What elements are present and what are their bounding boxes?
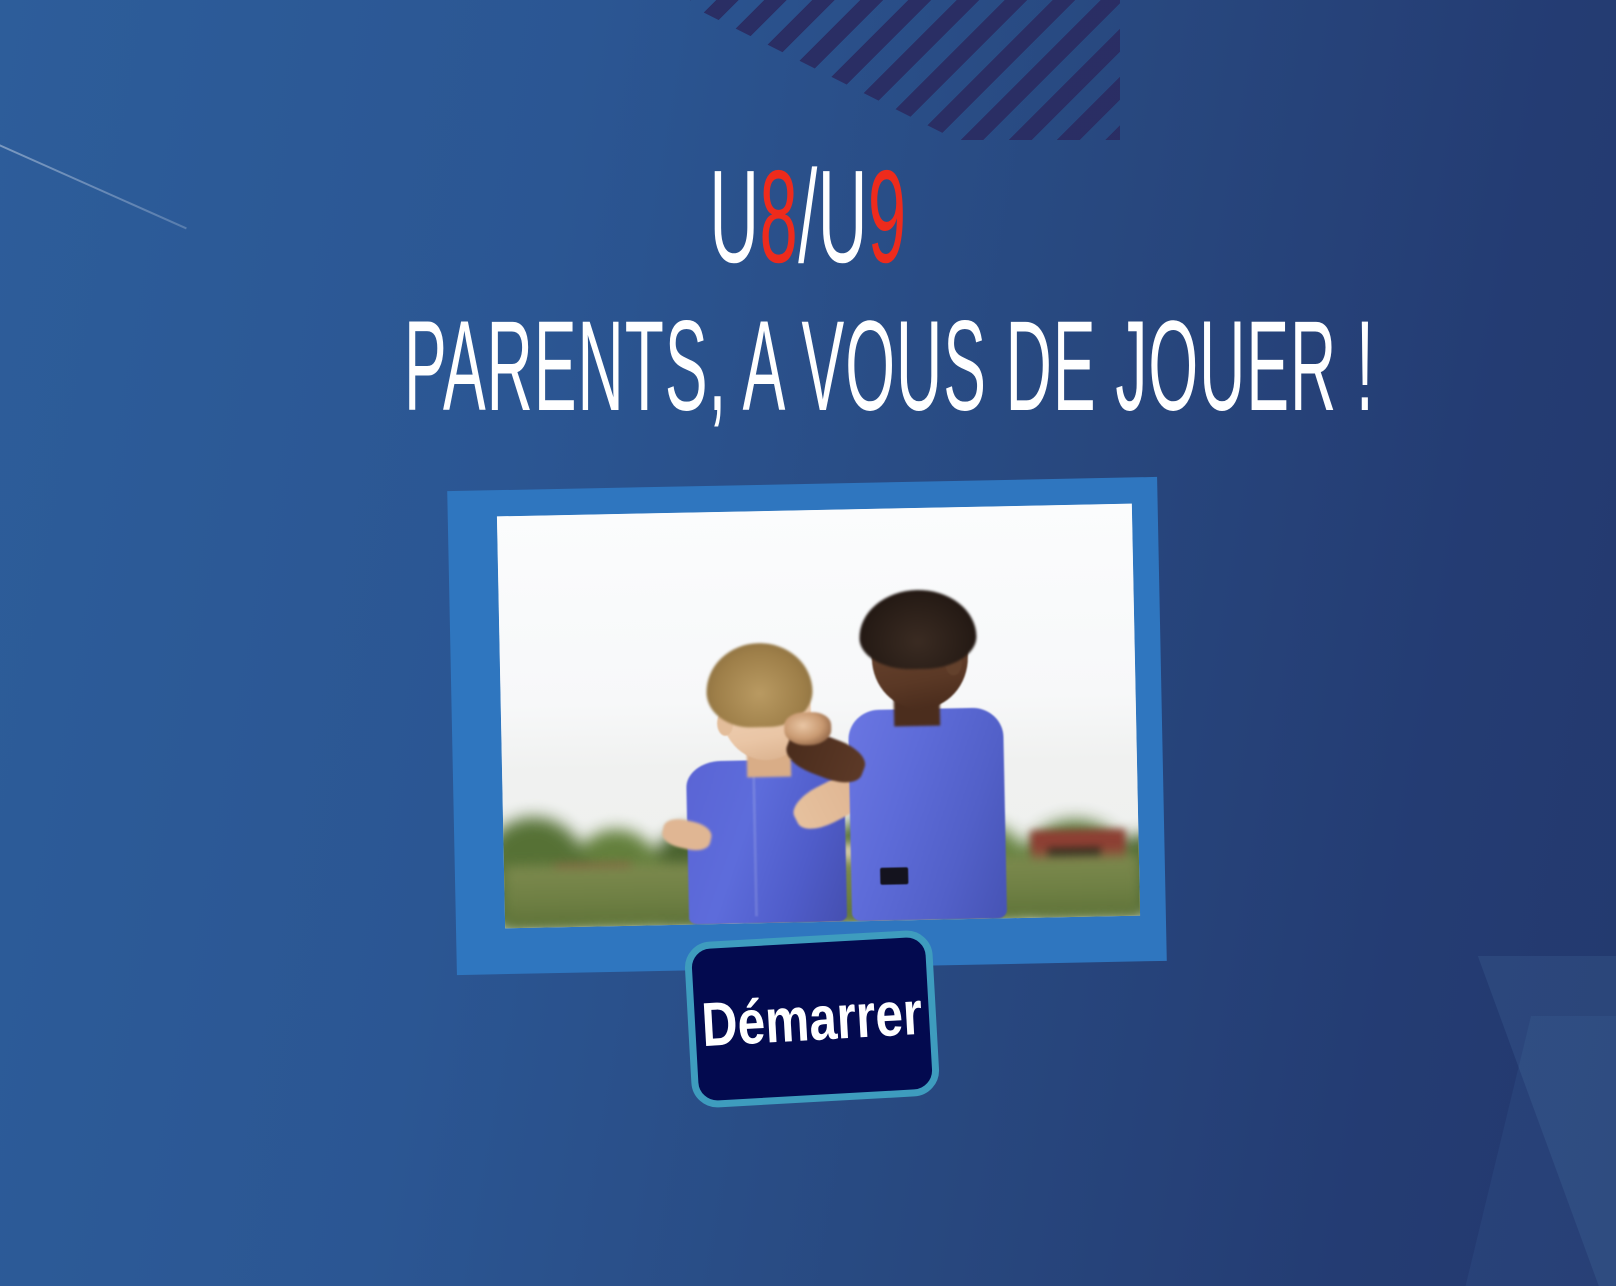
photo-card bbox=[452, 484, 1162, 968]
corner-accent-shape-icon bbox=[1326, 956, 1616, 1286]
title-separator: / bbox=[798, 143, 818, 290]
diagonal-stripes-pattern bbox=[690, 0, 1120, 140]
title-prefix-1: U bbox=[709, 143, 759, 290]
photo-handshake bbox=[783, 712, 831, 746]
title-number-2: 9 bbox=[868, 143, 907, 290]
page-subtitle: PARENTS, A VOUS DE JOUER ! bbox=[404, 299, 1212, 435]
start-button[interactable]: Démarrer bbox=[684, 929, 941, 1109]
photo-player-right-jersey-logo bbox=[880, 867, 908, 884]
start-button-label: Démarrer bbox=[700, 977, 924, 1060]
photo-player-right-hair bbox=[858, 589, 977, 670]
title-number-1: 8 bbox=[760, 143, 799, 290]
title-prefix-2: U bbox=[818, 143, 868, 290]
photo-player-right bbox=[829, 588, 1045, 922]
page-title: U8/U9 bbox=[388, 150, 1228, 285]
corner-accent-shape-secondary-icon bbox=[1376, 1016, 1616, 1286]
heading-block: U8/U9 PARENTS, A VOUS DE JOUER ! bbox=[0, 150, 1616, 434]
photo-player-right-jersey bbox=[848, 707, 1007, 921]
diagonal-stripes-icon bbox=[690, 0, 1120, 140]
photo-image bbox=[497, 504, 1140, 929]
slide-root: U8/U9 PARENTS, A VOUS DE JOUER ! bbox=[0, 0, 1616, 1286]
